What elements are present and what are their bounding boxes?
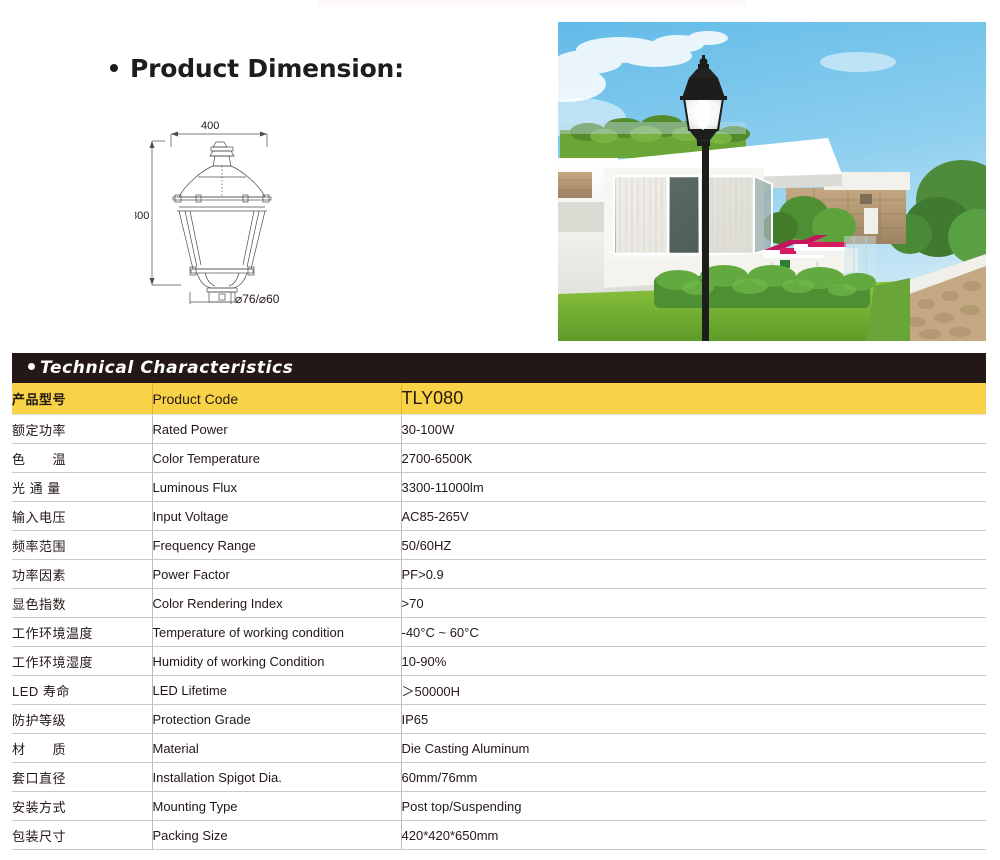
row-label-en: Installation Spigot Dia. — [152, 763, 401, 792]
table-row: 工作环境温度 Temperature of working condition … — [12, 618, 986, 647]
row-label-cn: 显色指数 — [12, 589, 152, 618]
row-label-cn: 色 温 — [12, 444, 152, 473]
application-photo — [558, 22, 986, 341]
table-row: 额定功率 Rated Power 30-100W — [12, 415, 986, 444]
bullet-dot-icon — [28, 363, 35, 370]
row-value: 60mm/76mm — [401, 763, 986, 792]
row-value: 30-100W — [401, 415, 986, 444]
table-row: 防护等级 Protection Grade IP65 — [12, 705, 986, 734]
row-value: 3300-11000lm — [401, 473, 986, 502]
row-label-en: Mounting Type — [152, 792, 401, 821]
top-band-decoration — [318, 0, 746, 5]
technical-characteristics-table: Technical Characteristics 产品型号 Product C… — [12, 353, 986, 850]
row-label-en: Packing Size — [152, 821, 401, 850]
table-row: 光 通 量 Luminous Flux 3300-11000lm — [12, 473, 986, 502]
dim-width-label: 400 — [201, 120, 219, 132]
row-label-en: Color Temperature — [152, 444, 401, 473]
row-label-cn: 输入电压 — [12, 502, 152, 531]
row-value: 2700-6500K — [401, 444, 986, 473]
row-label-en: Input Voltage — [152, 502, 401, 531]
row-label-en: Humidity of working Condition — [152, 647, 401, 676]
row-value: >70 — [401, 589, 986, 618]
row-label-cn: 材 质 — [12, 734, 152, 763]
product-dimension-title: Product Dimension: — [110, 54, 404, 83]
row-label-cn: 套口直径 — [12, 763, 152, 792]
row-label-cn: 工作环境湿度 — [12, 647, 152, 676]
row-value: ＞50000H — [401, 676, 986, 705]
villa-scene-svg — [558, 22, 986, 341]
row-value: IP65 — [401, 705, 986, 734]
row-label-cn: 产品型号 — [12, 383, 152, 415]
row-label-en: Frequency Range — [152, 531, 401, 560]
table-row: 频率范围 Frequency Range 50/60HZ — [12, 531, 986, 560]
row-value: 50/60HZ — [401, 531, 986, 560]
table-row: LED 寿命 LED Lifetime ＞50000H — [12, 676, 986, 705]
row-value: PF>0.9 — [401, 560, 986, 589]
row-label-cn: 额定功率 — [12, 415, 152, 444]
row-value: 10-90% — [401, 647, 986, 676]
product-dimension-section: Product Dimension: — [0, 22, 545, 322]
table-row: 材 质 Material Die Casting Aluminum — [12, 734, 986, 763]
row-label-en: LED Lifetime — [152, 676, 401, 705]
row-value: TLY080 — [401, 383, 986, 415]
row-label-en: Protection Grade — [152, 705, 401, 734]
row-label-cn: 包装尺寸 — [12, 821, 152, 850]
row-label-cn: 光 通 量 — [12, 473, 152, 502]
dim-height-label: 800 — [135, 210, 149, 222]
table-row: 安装方式 Mounting Type Post top/Suspending — [12, 792, 986, 821]
table-row: 显色指数 Color Rendering Index >70 — [12, 589, 986, 618]
row-label-cn: 功率因素 — [12, 560, 152, 589]
row-label-en: Temperature of working condition — [152, 618, 401, 647]
table-row: 包装尺寸 Packing Size 420*420*650mm — [12, 821, 986, 850]
row-value: Post top/Suspending — [401, 792, 986, 821]
row-label-en: Luminous Flux — [152, 473, 401, 502]
row-label-cn: LED 寿命 — [12, 676, 152, 705]
row-label-en: Power Factor — [152, 560, 401, 589]
row-label-en: Material — [152, 734, 401, 763]
row-value: 420*420*650mm — [401, 821, 986, 850]
table-row: 功率因素 Power Factor PF>0.9 — [12, 560, 986, 589]
bullet-dot-icon — [110, 64, 118, 72]
row-label-cn: 工作环境温度 — [12, 618, 152, 647]
row-label-en: Rated Power — [152, 415, 401, 444]
product-dimension-title-text: Product Dimension: — [130, 54, 404, 83]
spec-rows: 产品型号 Product Code TLY080 额定功率 Rated Powe… — [12, 383, 986, 850]
table-header-bar: Technical Characteristics — [12, 353, 986, 383]
row-value: -40°C ~ 60°C — [401, 618, 986, 647]
row-label-en: Product Code — [152, 383, 401, 415]
table-row: 输入电压 Input Voltage AC85-265V — [12, 502, 986, 531]
row-label-cn: 频率范围 — [12, 531, 152, 560]
dimension-drawing: 400 800 ⌀76/⌀60 — [135, 107, 395, 317]
table-header-title: Technical Characteristics — [40, 358, 293, 378]
product-spec-page: Product Dimension: — [0, 0, 1000, 860]
table-row: 套口直径 Installation Spigot Dia. 60mm/76mm — [12, 763, 986, 792]
row-value: Die Casting Aluminum — [401, 734, 986, 763]
row-label-cn: 防护等级 — [12, 705, 152, 734]
table-row: 色 温 Color Temperature 2700-6500K — [12, 444, 986, 473]
table-row: 工作环境湿度 Humidity of working Condition 10-… — [12, 647, 986, 676]
dim-spigot-label: ⌀76/⌀60 — [235, 292, 280, 306]
lamp-technical-drawing-svg: 400 800 ⌀76/⌀60 — [135, 107, 395, 317]
row-label-en: Color Rendering Index — [152, 589, 401, 618]
row-value: AC85-265V — [401, 502, 986, 531]
table-row-product-code: 产品型号 Product Code TLY080 — [12, 383, 986, 415]
row-label-cn: 安装方式 — [12, 792, 152, 821]
